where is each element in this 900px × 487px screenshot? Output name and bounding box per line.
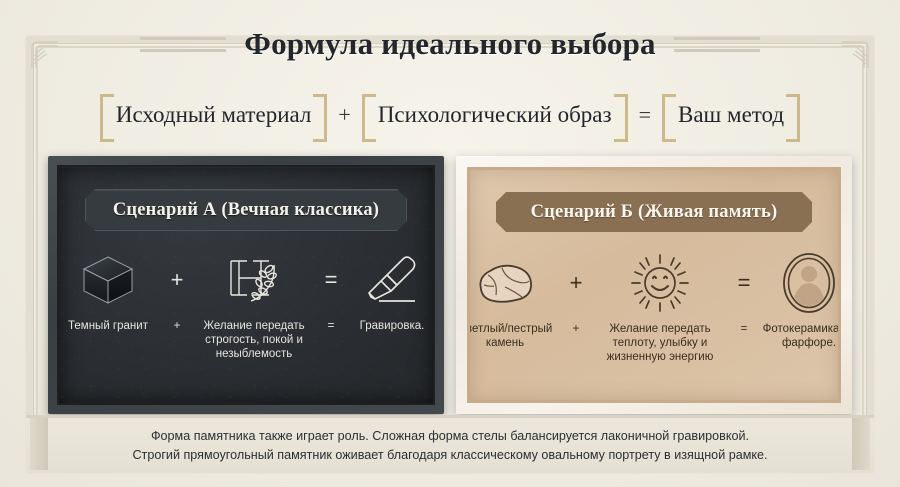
- equation-item-sun: Желание передать теплоту, улыбку и жизне…: [589, 252, 731, 364]
- caption-block-right: [852, 418, 870, 470]
- infographic-slide: Формула идеального выбора Исходный матер…: [0, 0, 900, 487]
- equation-operator-equals-a: = =: [318, 249, 344, 333]
- formula-operator-plus: +: [337, 102, 351, 128]
- equals-operator-icon: =: [731, 252, 757, 314]
- formula-operator-equals: =: [638, 102, 652, 128]
- formula-term-material-label: Исходный материал: [116, 102, 311, 128]
- equation-label-monogram: Желание передать строгость, покой и незы…: [190, 319, 318, 361]
- page-title: Формула идеального выбора: [244, 26, 655, 62]
- equation-item-engraving: Гравировка.: [344, 249, 435, 333]
- equation-label-stone: Светлый/пестрый камень: [467, 322, 563, 350]
- formula-row: Исходный материал + Психологический обра…: [0, 92, 900, 138]
- formula-term-result-label: Ваш метод: [678, 102, 784, 128]
- equals-operator-icon: =: [318, 249, 344, 311]
- rough-stone-icon: [472, 252, 538, 314]
- equation-item-granite: Темный гранит: [57, 249, 164, 333]
- scenario-panels: Сценарий А (Вечная классика): [48, 156, 852, 414]
- equation-item-stone: Светлый/пестрый камень: [467, 252, 563, 350]
- panel-scenario-a-title: Сценарий А (Вечная классика): [85, 189, 407, 231]
- panel-scenario-a-equation: Темный гранит + +: [69, 249, 423, 361]
- footer-caption-line-1: Форма памятника также играет роль. Сложн…: [151, 427, 749, 446]
- title-row: Формула идеального выбора: [0, 22, 900, 66]
- equation-label-granite: Темный гранит: [57, 319, 164, 333]
- equation-operator-plus-a: + +: [164, 249, 190, 333]
- equation-operator-plus-b: + +: [563, 252, 589, 336]
- title-rule-right: [674, 37, 760, 52]
- oval-portrait-icon: [781, 252, 837, 314]
- equation-operator-equals-b-label: =: [731, 322, 757, 336]
- equation-item-photoceramic: Фотокерамика на фарфоре.: [757, 252, 841, 350]
- title-rule-left: [140, 37, 226, 52]
- panel-scenario-b-equation: Светлый/пестрый камень + +: [480, 252, 828, 364]
- smiling-sun-icon: [627, 252, 693, 314]
- formula-term-result: Ваш метод: [662, 94, 800, 136]
- monogram-laurel-icon: [223, 249, 285, 311]
- equation-operator-plus-a-label: +: [164, 319, 190, 333]
- equation-label-photoceramic: Фотокерамика на фарфоре.: [757, 322, 841, 350]
- granite-cube-icon: [79, 249, 137, 311]
- plus-operator-icon: +: [563, 252, 589, 314]
- equation-operator-plus-b-label: +: [563, 322, 589, 336]
- equation-operator-equals-a-label: =: [318, 319, 344, 333]
- footer-caption: Форма памятника также играет роль. Сложн…: [26, 415, 874, 473]
- panel-scenario-a: Сценарий А (Вечная классика): [48, 156, 444, 414]
- plus-operator-icon: +: [164, 249, 190, 311]
- chisel-icon: [361, 249, 423, 311]
- equation-item-monogram: Желание передать строгость, покой и незы…: [190, 249, 318, 361]
- formula-term-image: Психологический образ: [362, 94, 628, 136]
- equation-label-sun: Желание передать теплоту, улыбку и жизне…: [589, 322, 731, 364]
- caption-block-left: [30, 418, 48, 470]
- footer-caption-line-2: Строгий прямоугольный памятник оживает б…: [132, 446, 767, 465]
- formula-term-image-label: Психологический образ: [378, 102, 612, 128]
- equation-label-engraving: Гравировка.: [344, 319, 435, 333]
- equation-operator-equals-b: = =: [731, 252, 757, 336]
- panel-scenario-b-title: Сценарий Б (Живая память): [496, 192, 812, 232]
- formula-term-material: Исходный материал: [100, 94, 327, 136]
- panel-scenario-b: Сценарий Б (Живая память): [456, 156, 852, 414]
